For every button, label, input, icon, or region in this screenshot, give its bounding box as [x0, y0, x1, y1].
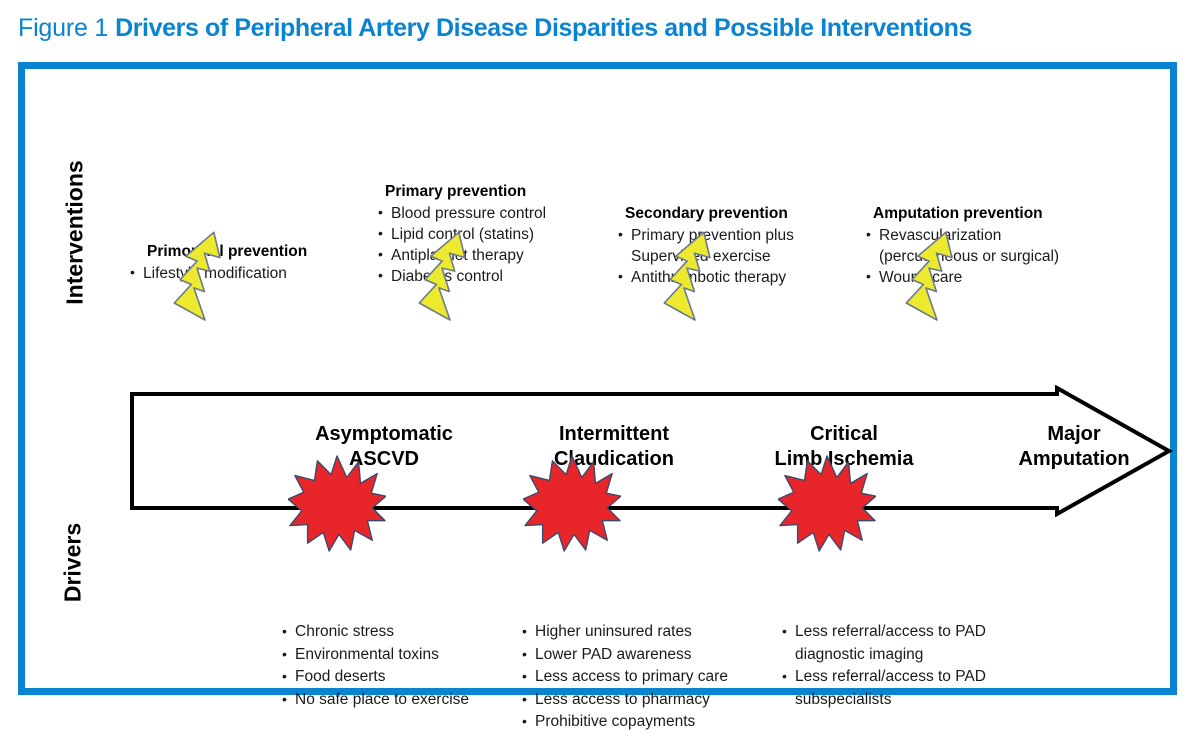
list-item-continuation: subspecialists	[781, 689, 986, 712]
list-item: Less referral/access to PAD	[781, 621, 986, 644]
figure-number-label: Figure 1	[18, 14, 108, 42]
list-item: Prohibitive copayments	[521, 711, 728, 734]
lightning-bolt-icon	[663, 229, 721, 321]
page-title: Figure 1 Drivers of Peripheral Artery Di…	[18, 12, 972, 44]
list-item: Lower PAD awareness	[521, 644, 728, 667]
intervention-heading: Primary prevention	[377, 181, 546, 202]
starburst-icon	[523, 454, 621, 552]
driver-block-critical-limb-ischemia: Less referral/access to PAD diagnostic i…	[781, 621, 986, 711]
stage-line-1: Asymptomatic	[289, 422, 479, 447]
axis-label-interventions: Interventions	[62, 153, 89, 313]
intervention-heading: Amputation prevention	[865, 203, 1059, 224]
figure-headline: Drivers of Peripheral Artery Disease Dis…	[115, 14, 972, 42]
list-item: Blood pressure control	[377, 203, 546, 224]
list-item: Less referral/access to PAD	[781, 666, 986, 689]
stage-line-1: Major	[979, 422, 1169, 447]
axis-label-drivers: Drivers	[60, 493, 87, 633]
lightning-bolt-icon	[173, 229, 231, 321]
lightning-bolt-icon	[418, 229, 476, 321]
driver-block-primordial: Chronic stress Environmental toxins Food…	[281, 621, 469, 711]
stage-line-2: Amputation	[979, 447, 1169, 472]
starburst-icon	[778, 454, 876, 552]
intervention-heading: Secondary prevention	[617, 203, 794, 224]
figure-frame: Interventions Drivers Primordial prevent…	[18, 62, 1177, 695]
stage-label-major-amputation: Major Amputation	[979, 422, 1169, 472]
stage-line-1: Intermittent	[519, 422, 709, 447]
driver-bullet-list: Less referral/access to PAD diagnostic i…	[781, 621, 986, 711]
list-item: No safe place to exercise	[281, 689, 469, 712]
list-item: Less access to pharmacy	[521, 689, 728, 712]
lightning-bolt-icon	[905, 229, 963, 321]
list-item: Environmental toxins	[281, 644, 469, 667]
driver-block-claudication: Higher uninsured rates Lower PAD awarene…	[521, 621, 728, 734]
list-item-continuation: diagnostic imaging	[781, 644, 986, 667]
driver-bullet-list: Higher uninsured rates Lower PAD awarene…	[521, 621, 728, 734]
list-item: Chronic stress	[281, 621, 469, 644]
driver-bullet-list: Chronic stress Environmental toxins Food…	[281, 621, 469, 711]
list-item: Less access to primary care	[521, 666, 728, 689]
starburst-icon	[288, 454, 386, 552]
disease-progression-arrow: Asymptomatic ASCVD Intermittent Claudica…	[129, 385, 1174, 517]
stage-line-1: Critical	[734, 422, 954, 447]
list-item: Higher uninsured rates	[521, 621, 728, 644]
list-item: Food deserts	[281, 666, 469, 689]
